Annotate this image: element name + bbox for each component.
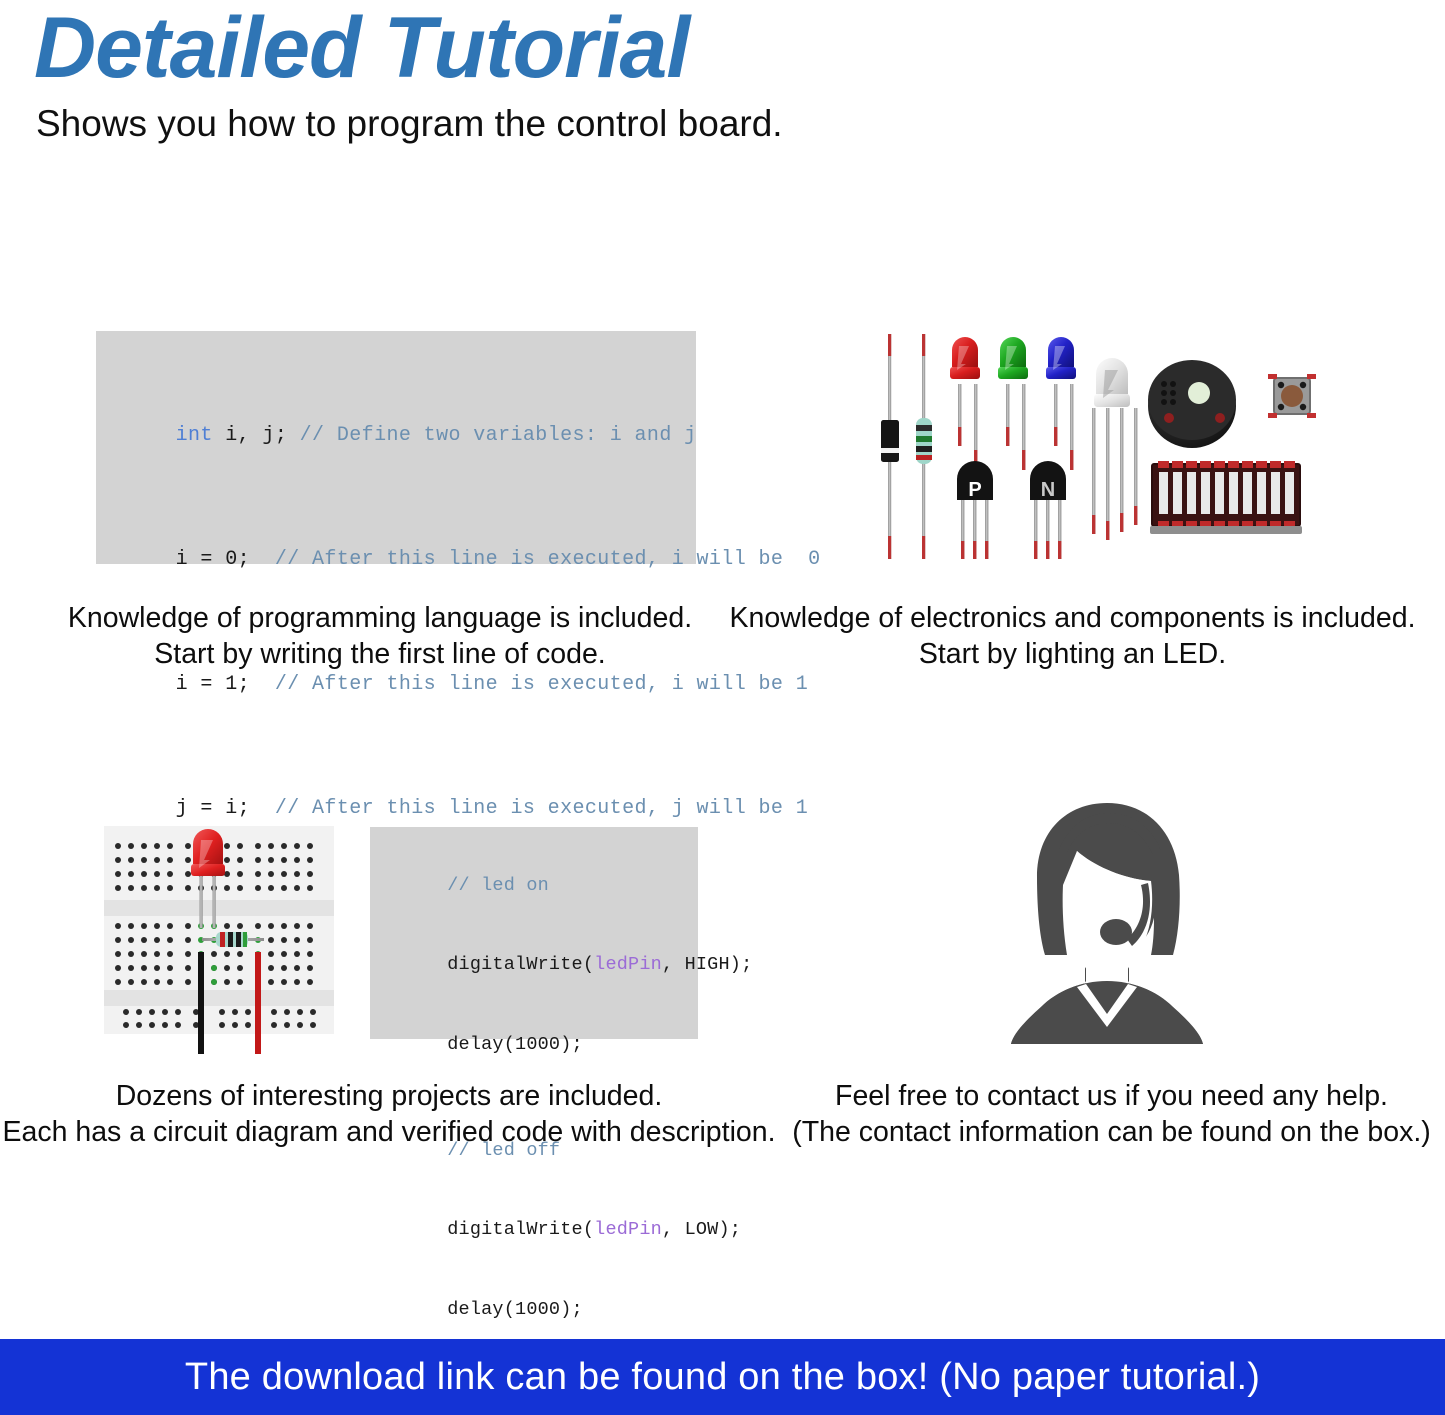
breadboard-circuit-figure [96, 822, 341, 1054]
caption-projects: Dozens of interesting projects are inclu… [0, 1078, 778, 1150]
code-text: i = 0; [176, 548, 275, 571]
download-banner: The download link can be found on the bo… [0, 1339, 1445, 1415]
diode-icon [881, 334, 899, 559]
code-line: delay(1000); [402, 1005, 698, 1085]
caption-line: Knowledge of electronics and components … [700, 600, 1445, 636]
code-keyword: int [176, 424, 213, 447]
tactile-button-icon [1268, 374, 1316, 418]
caption-line: Start by writing the first line of code. [0, 636, 760, 672]
code-line: digitalWrite(ledPin, HIGH); [402, 926, 698, 1006]
dip-switch-icon [1150, 461, 1302, 534]
led-leg [200, 870, 203, 928]
wire-black [198, 952, 204, 1054]
caption-line: Start by lighting an LED. [700, 636, 1445, 672]
code-text: i = 1; [176, 673, 275, 696]
code-text: , HIGH); [662, 954, 752, 975]
wire-red [255, 952, 261, 1054]
code-text: j = i; [176, 797, 275, 820]
transistor-p-icon: P [957, 461, 993, 559]
code-comment: // Define two variables: i and j [300, 424, 697, 447]
transistor-p-label: P [968, 479, 981, 501]
code-text: i, j; [213, 424, 300, 447]
code-comment: // After this line is executed, i will b… [275, 673, 808, 696]
code-line: int i, j; // Define two variables: i and… [126, 373, 696, 498]
code-comment: // After this line is executed, j will b… [275, 797, 808, 820]
support-agent-body [1011, 981, 1203, 1044]
customer-support-figure [985, 795, 1230, 1045]
headset-mic-icon [1100, 919, 1132, 945]
code-text: digitalWrite( [447, 954, 594, 975]
page-subtitle: Shows you how to program the control boa… [0, 94, 1445, 146]
code-variable: ledPin [594, 954, 662, 975]
caption-line: Each has a circuit diagram and verified … [0, 1114, 778, 1150]
code-text: digitalWrite( [447, 1219, 594, 1240]
led-green-icon [998, 337, 1028, 470]
code-comment: // led on [447, 875, 549, 896]
transistor-n-label: N [1041, 479, 1055, 501]
resistor-icon [916, 334, 932, 559]
code-variable: ledPin [594, 1219, 662, 1240]
code-line: delay(1000); [402, 1270, 698, 1350]
caption-line: (The contact information can be found on… [778, 1114, 1445, 1150]
caption-line: Dozens of interesting projects are inclu… [0, 1078, 778, 1114]
header: Detailed Tutorial Shows you how to progr… [0, 0, 1445, 146]
buzzer-icon [1148, 360, 1236, 448]
code-line: digitalWrite(ledPin, LOW); [402, 1191, 698, 1271]
code-comment: // After this line is executed, i will b… [275, 548, 821, 571]
breadboard-led-icon [191, 829, 225, 876]
code-line: // led on [402, 846, 698, 926]
caption-line: Feel free to contact us if you need any … [778, 1078, 1445, 1114]
caption-electronics: Knowledge of electronics and components … [700, 600, 1445, 672]
page-title: Detailed Tutorial [0, 0, 1445, 94]
caption-line: Knowledge of programming language is inc… [0, 600, 760, 636]
code-text: delay(1000); [447, 1034, 583, 1055]
code-sample-variables: int i, j; // Define two variables: i and… [96, 331, 696, 564]
transistor-n-icon: N [1030, 461, 1066, 559]
led-leg [213, 870, 216, 928]
code-text: delay(1000); [447, 1299, 583, 1320]
download-banner-text: The download link can be found on the bo… [185, 1355, 1260, 1399]
caption-support: Feel free to contact us if you need any … [778, 1078, 1445, 1150]
code-text: , LOW); [662, 1219, 741, 1240]
led-blue-icon [1046, 337, 1076, 470]
code-sample-led-blink: // led on digitalWrite(ledPin, HIGH); de… [370, 827, 698, 1039]
electronic-components-figure: P N [862, 322, 1322, 570]
rgb-led-icon [1092, 358, 1137, 540]
led-red-icon [950, 337, 980, 470]
caption-programming: Knowledge of programming language is inc… [0, 600, 760, 672]
